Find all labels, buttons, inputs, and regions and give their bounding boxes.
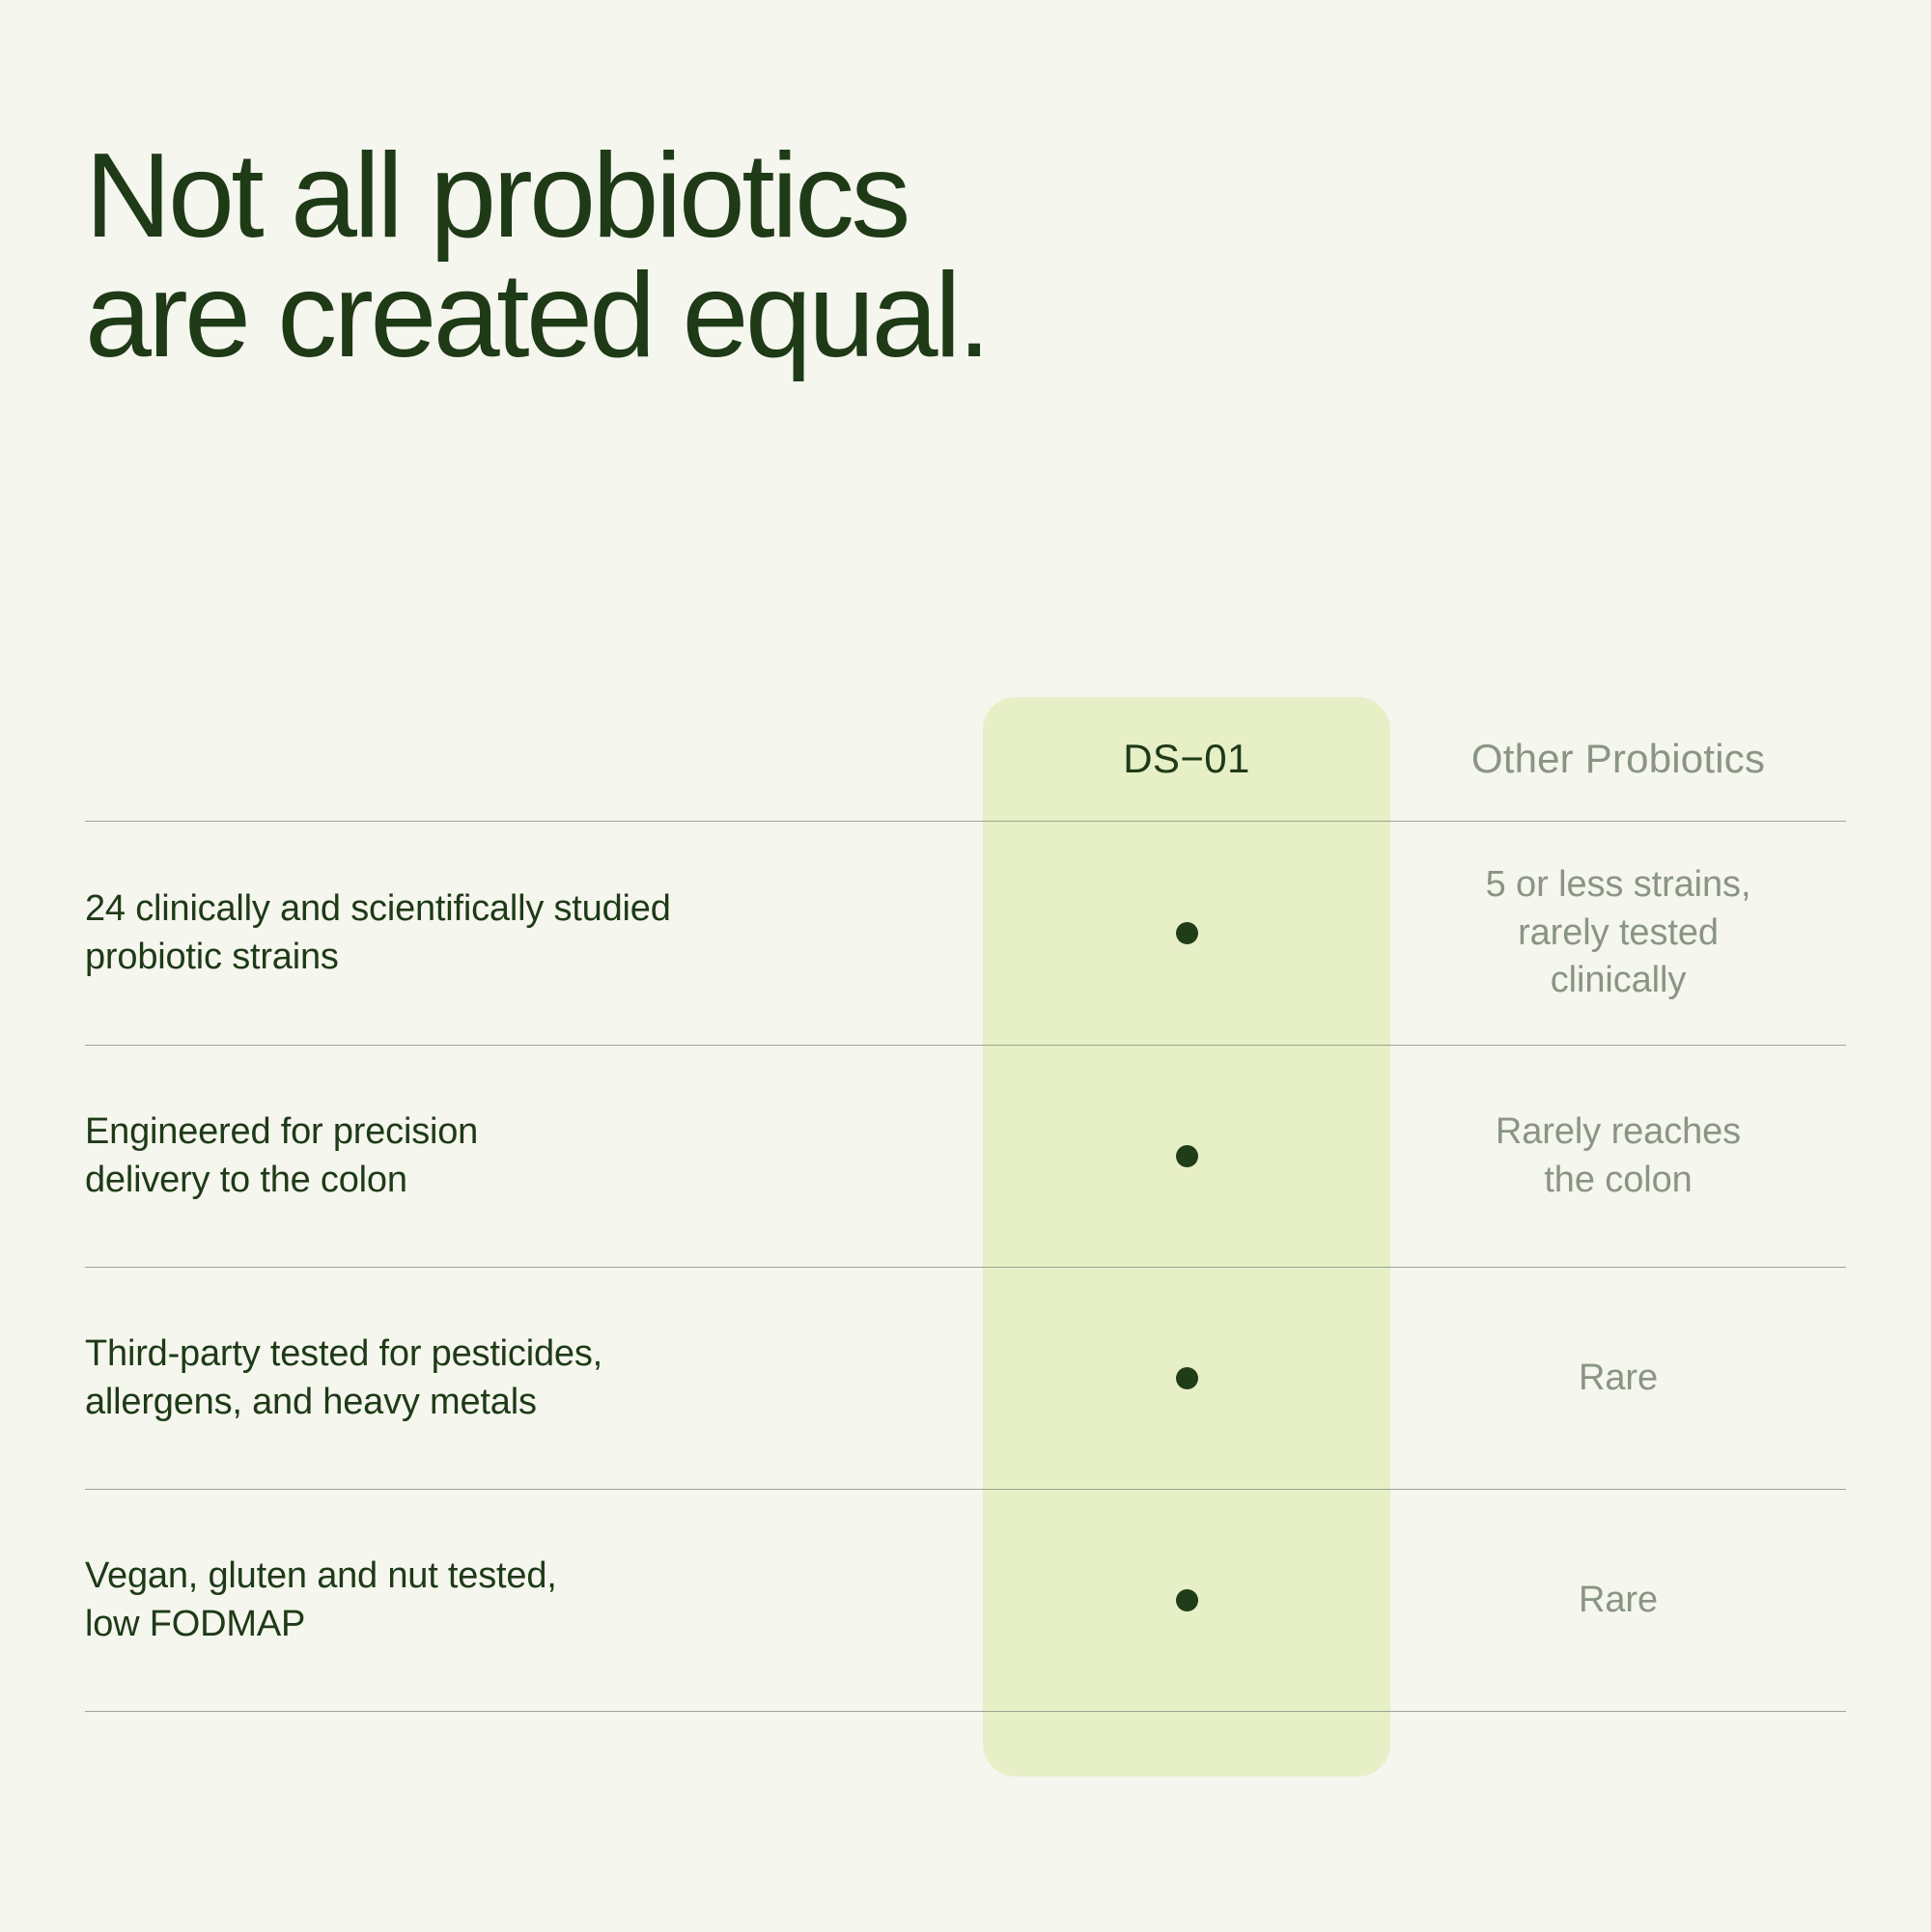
table-row: Third-party tested for pesticides, aller… bbox=[85, 1268, 1846, 1489]
comparison-table: DS−01 Other Probiotics 24 clinically and… bbox=[0, 0, 1931, 1932]
header-cell-feature bbox=[85, 697, 983, 821]
check-dot-icon bbox=[1176, 1367, 1198, 1389]
other-value: 5 or less strains, rarely tested clinica… bbox=[1486, 861, 1751, 1004]
other-cell: 5 or less strains, rarely tested clinica… bbox=[1390, 822, 1846, 1045]
check-dot-icon bbox=[1176, 922, 1198, 944]
row-separator bbox=[85, 1267, 1846, 1268]
ds01-cell bbox=[983, 1268, 1390, 1489]
column-header-other-probiotics: Other Probiotics bbox=[1471, 737, 1765, 781]
ds01-cell bbox=[983, 1490, 1390, 1711]
row-separator bbox=[85, 1045, 1846, 1046]
check-dot-icon bbox=[1176, 1589, 1198, 1611]
ds01-cell bbox=[983, 1046, 1390, 1267]
table-grid: DS−01 Other Probiotics 24 clinically and… bbox=[85, 697, 1846, 1712]
other-value: Rarely reaches the colon bbox=[1496, 1108, 1741, 1204]
feature-cell: Third-party tested for pesticides, aller… bbox=[85, 1268, 983, 1489]
check-dot-icon bbox=[1176, 1145, 1198, 1167]
other-value: Rare bbox=[1579, 1355, 1658, 1402]
row-separator bbox=[85, 821, 1846, 822]
feature-cell: Engineered for precision delivery to the… bbox=[85, 1046, 983, 1267]
feature-label: Third-party tested for pesticides, aller… bbox=[85, 1330, 641, 1426]
table-row: Engineered for precision delivery to the… bbox=[85, 1046, 1846, 1267]
feature-label: Vegan, gluten and nut tested, low FODMAP bbox=[85, 1553, 596, 1648]
column-header-ds01: DS−01 bbox=[1123, 737, 1250, 781]
row-separator bbox=[85, 1711, 1846, 1712]
other-value: Rare bbox=[1579, 1577, 1658, 1624]
table-header-row: DS−01 Other Probiotics bbox=[85, 697, 1846, 821]
ds01-cell bbox=[983, 822, 1390, 1045]
comparison-infographic: Not all probiotics are created equal. DS… bbox=[0, 0, 1931, 1932]
header-cell-other: Other Probiotics bbox=[1390, 697, 1846, 821]
other-cell: Rare bbox=[1390, 1268, 1846, 1489]
feature-cell: Vegan, gluten and nut tested, low FODMAP bbox=[85, 1490, 983, 1711]
table-row: 24 clinically and scientifically studied… bbox=[85, 822, 1846, 1045]
other-cell: Rare bbox=[1390, 1490, 1846, 1711]
table-row: Vegan, gluten and nut tested, low FODMAP… bbox=[85, 1490, 1846, 1711]
feature-label: 24 clinically and scientifically studied… bbox=[85, 885, 710, 981]
feature-label: Engineered for precision delivery to the… bbox=[85, 1108, 517, 1204]
other-cell: Rarely reaches the colon bbox=[1390, 1046, 1846, 1267]
row-separator bbox=[85, 1489, 1846, 1490]
header-cell-ds01: DS−01 bbox=[983, 697, 1390, 821]
feature-cell: 24 clinically and scientifically studied… bbox=[85, 822, 983, 1045]
